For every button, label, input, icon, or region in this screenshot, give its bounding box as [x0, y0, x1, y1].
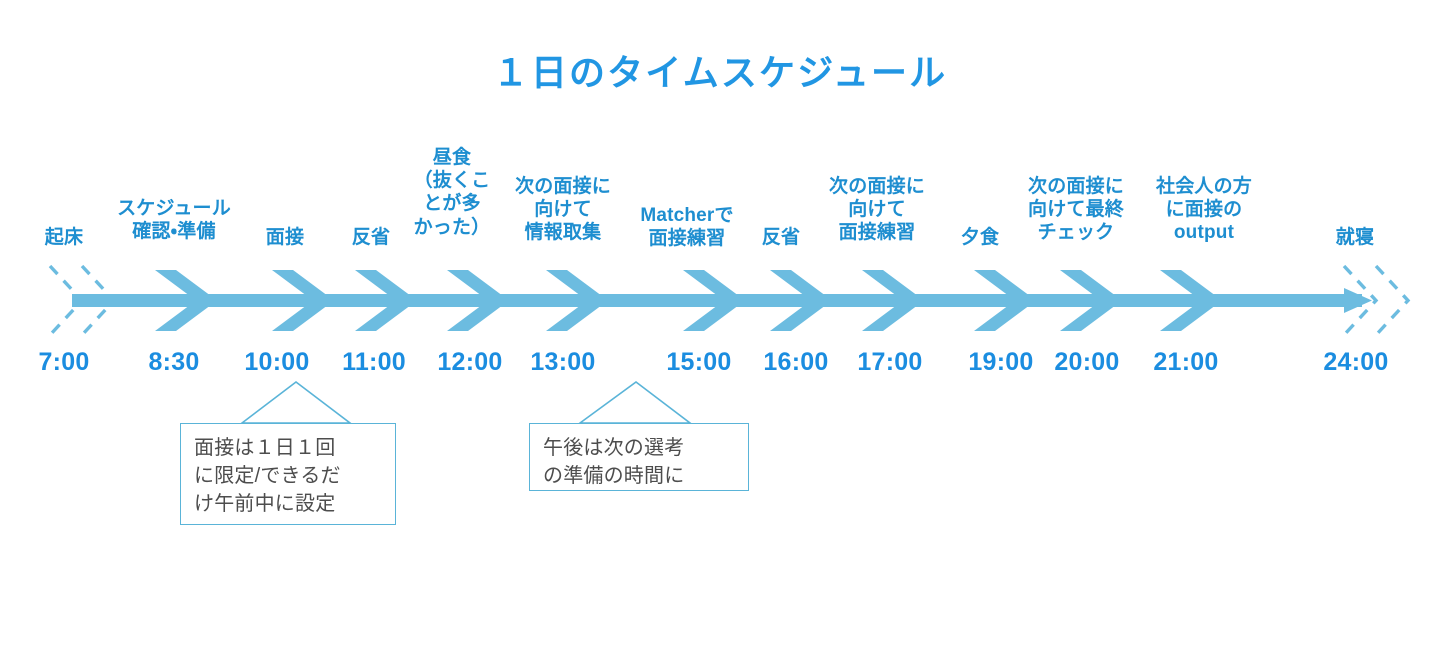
callout-note-1: 面接は１日１回 に限定/できるだ け午前中に設定	[180, 423, 396, 525]
timeline-bar	[72, 294, 1362, 307]
timeline-arrowhead	[1344, 288, 1372, 313]
stage-label-6: 次の面接に 向けて 情報取集	[515, 175, 611, 245]
timeline-graphic	[0, 0, 1440, 657]
page-title: １日のタイムスケジュール	[0, 44, 1440, 96]
time-label-5: 12:00	[437, 348, 502, 377]
time-label-10: 19:00	[968, 348, 1033, 377]
time-label-11: 20:00	[1054, 348, 1119, 377]
stage-label-1: 起床	[45, 226, 83, 249]
timeline-start-marker	[50, 266, 114, 335]
stage-label-11: 次の面接に 向けて最終 チェック	[1028, 175, 1124, 245]
stage-label-5: 昼食 （抜くこ とが多 かった）	[414, 146, 491, 239]
time-label-12: 21:00	[1153, 348, 1218, 377]
callout-tails	[242, 382, 690, 423]
callout-tail-2	[580, 382, 690, 423]
stage-label-9: 次の面接に 向けて 面接練習	[829, 175, 925, 245]
stage-label-12: 社会人の方 に面接の output	[1156, 175, 1252, 245]
timeline-end-marker	[1344, 266, 1408, 335]
time-label-1: 7:00	[38, 348, 89, 377]
time-label-7: 15:00	[666, 348, 731, 377]
callout-note-2: 午後は次の選考 の準備の時間に	[529, 423, 749, 491]
stage-label-3: 面接	[266, 226, 304, 249]
time-label-2: 8:30	[148, 348, 199, 377]
stage-label-2: スケジュール 確認・準備	[117, 197, 231, 243]
stage-label-4: 反省	[352, 226, 390, 249]
stage-label-13: 就寝	[1336, 226, 1374, 249]
time-label-3: 10:00	[244, 348, 309, 377]
stage-label-7: Matcherで 面接練習	[640, 204, 733, 250]
timeline-infographic: １日のタイムスケジュール	[0, 0, 1440, 657]
time-label-13: 24:00	[1323, 348, 1388, 377]
stage-label-8: 反省	[762, 226, 800, 249]
time-label-8: 16:00	[763, 348, 828, 377]
time-label-6: 13:00	[530, 348, 595, 377]
stage-label-10: 夕食	[961, 226, 999, 249]
time-label-4: 11:00	[342, 348, 406, 377]
time-label-9: 17:00	[857, 348, 922, 377]
timeline-chevrons	[155, 270, 1222, 331]
callout-tail-1	[242, 382, 350, 423]
